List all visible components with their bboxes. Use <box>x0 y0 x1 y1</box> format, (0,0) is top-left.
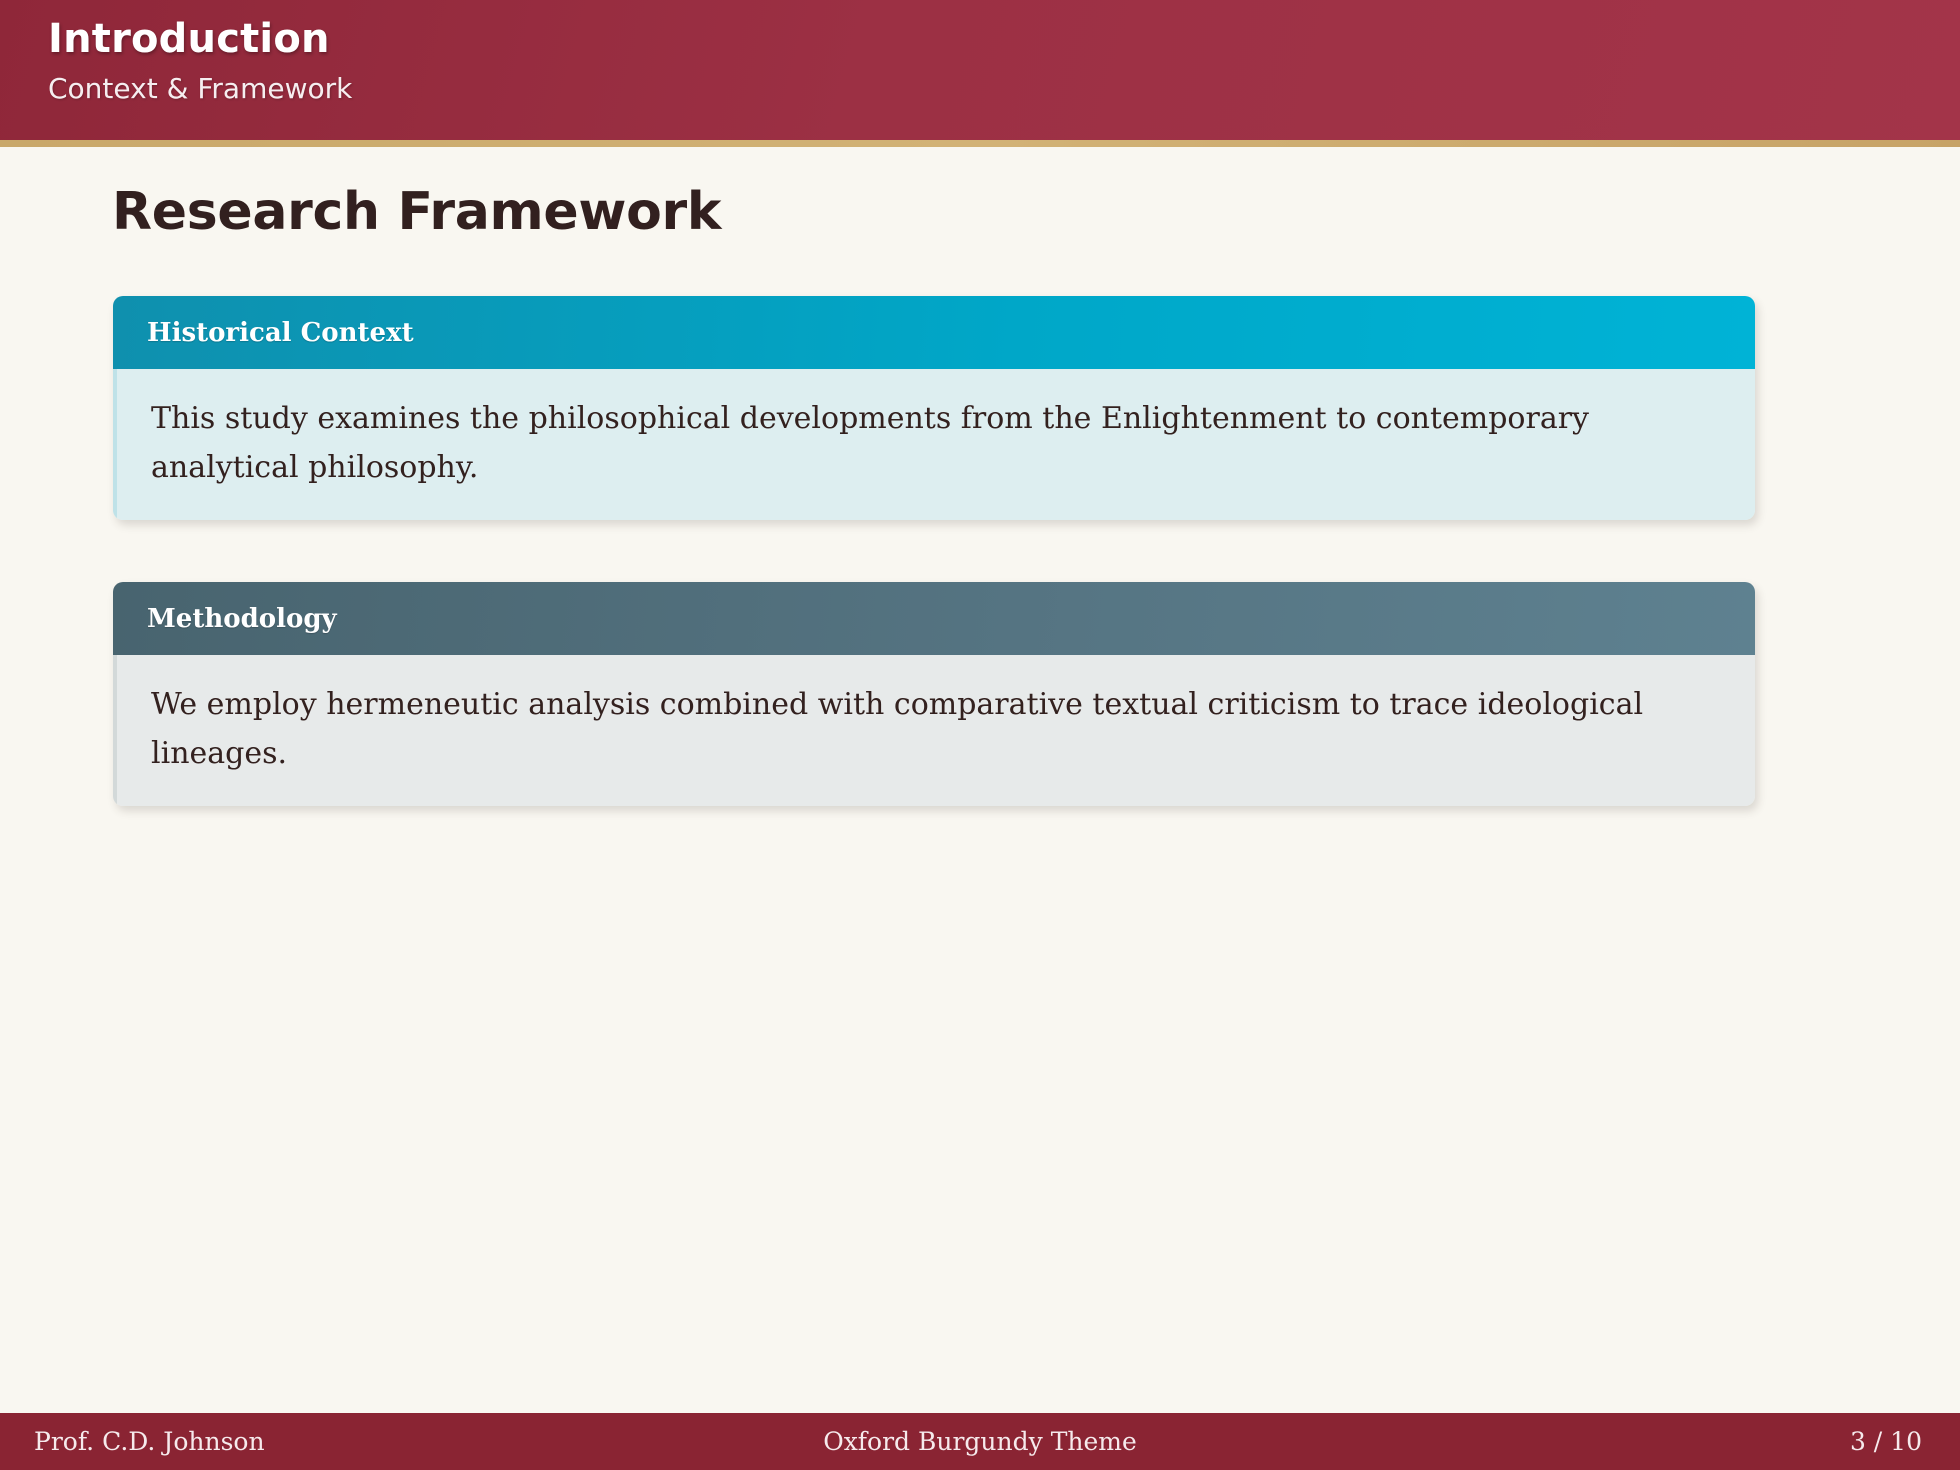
footer-page-number: 3 / 10 <box>1850 1427 1922 1456</box>
footer-author: Prof. C.D. Johnson <box>34 1427 265 1456</box>
block-title: Methodology <box>113 582 1755 655</box>
block-title: Historical Context <box>113 296 1755 369</box>
block-historical-context: Historical Context This study examines t… <box>113 296 1755 520</box>
block-body: We employ hermeneutic analysis combined … <box>113 655 1755 806</box>
page-title: Research Framework <box>112 182 721 242</box>
block-methodology: Methodology We employ hermeneutic analys… <box>113 582 1755 806</box>
header-accent-line <box>0 140 1960 147</box>
footer-theme-name: Oxford Burgundy Theme <box>0 1427 1960 1456</box>
slide-footer: Prof. C.D. Johnson Oxford Burgundy Theme… <box>0 1413 1960 1470</box>
presentation-slide: Introduction Context & Framework Researc… <box>0 0 1960 1470</box>
header-subtitle: Context & Framework <box>48 72 1960 106</box>
header-title: Introduction <box>48 16 1960 62</box>
block-body: This study examines the philosophical de… <box>113 369 1755 520</box>
slide-header: Introduction Context & Framework <box>0 0 1960 140</box>
